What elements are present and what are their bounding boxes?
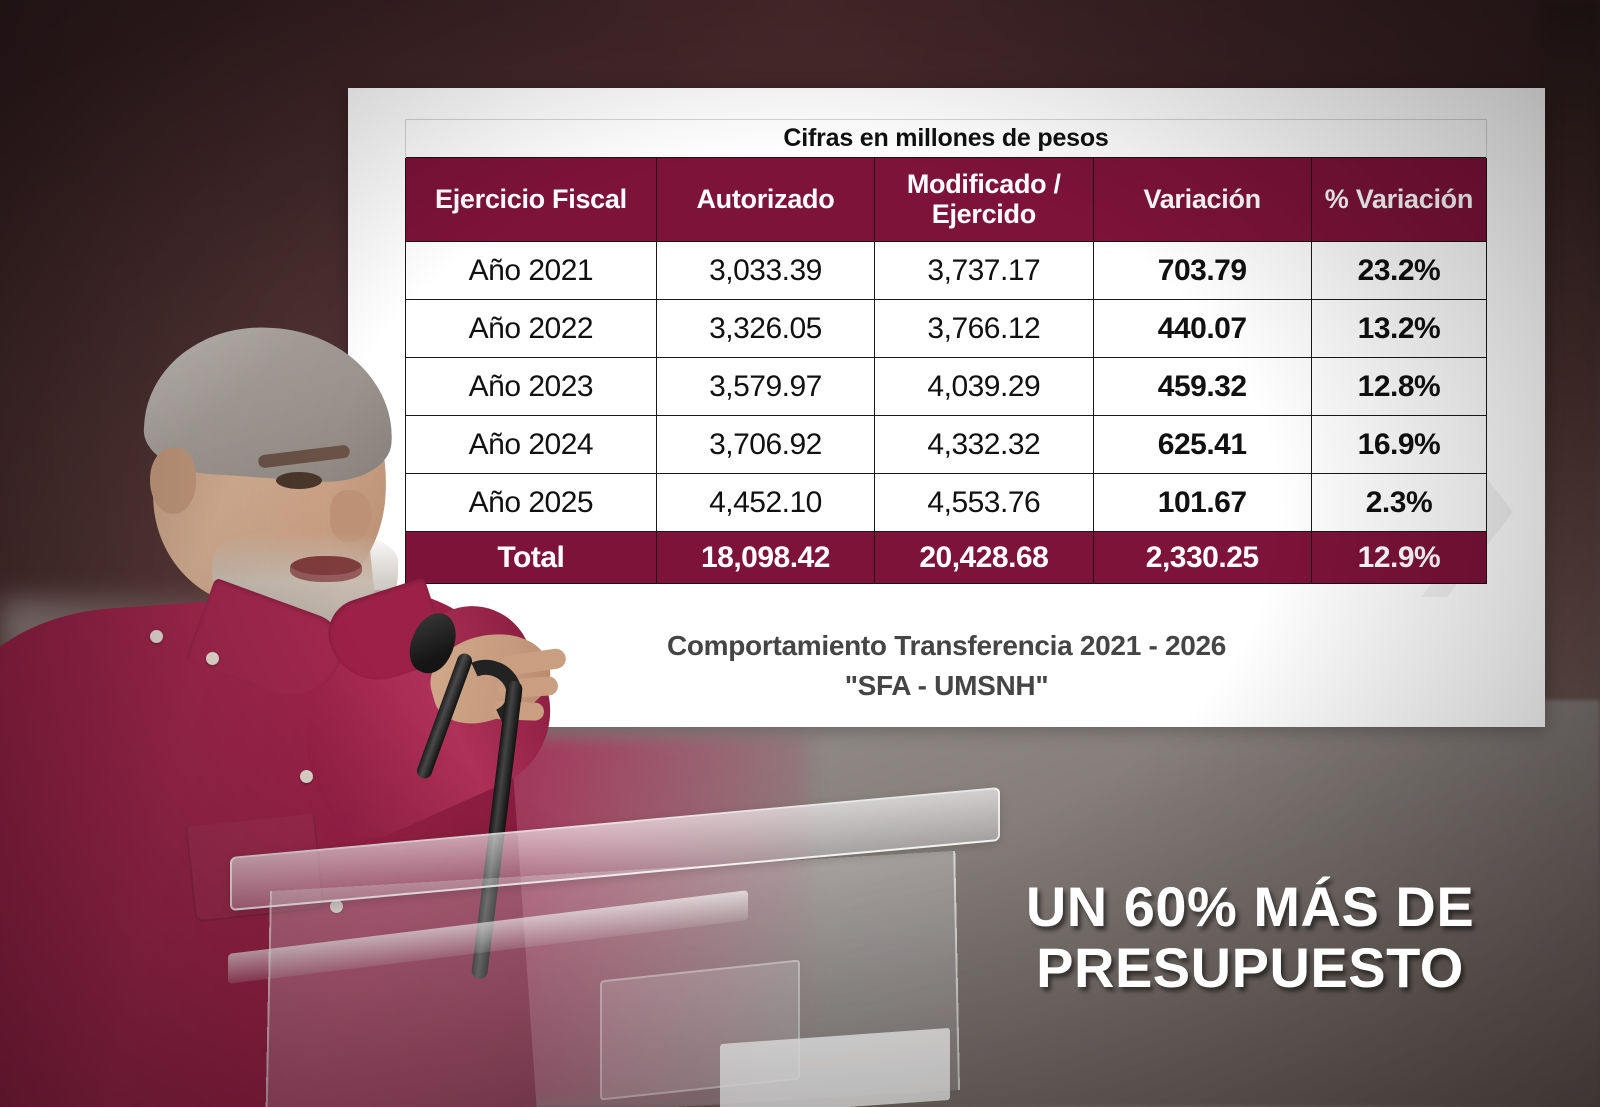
headline-overlay: UN 60% MÁS DE PRESUPUESTO: [940, 876, 1560, 999]
headline-line-2: PRESUPUESTO: [940, 937, 1560, 999]
headline-line-1: UN 60% MÁS DE: [1026, 875, 1474, 938]
screenshot-stage: Cifras en millones de pesos Ejercicio Fi…: [0, 0, 1600, 1107]
